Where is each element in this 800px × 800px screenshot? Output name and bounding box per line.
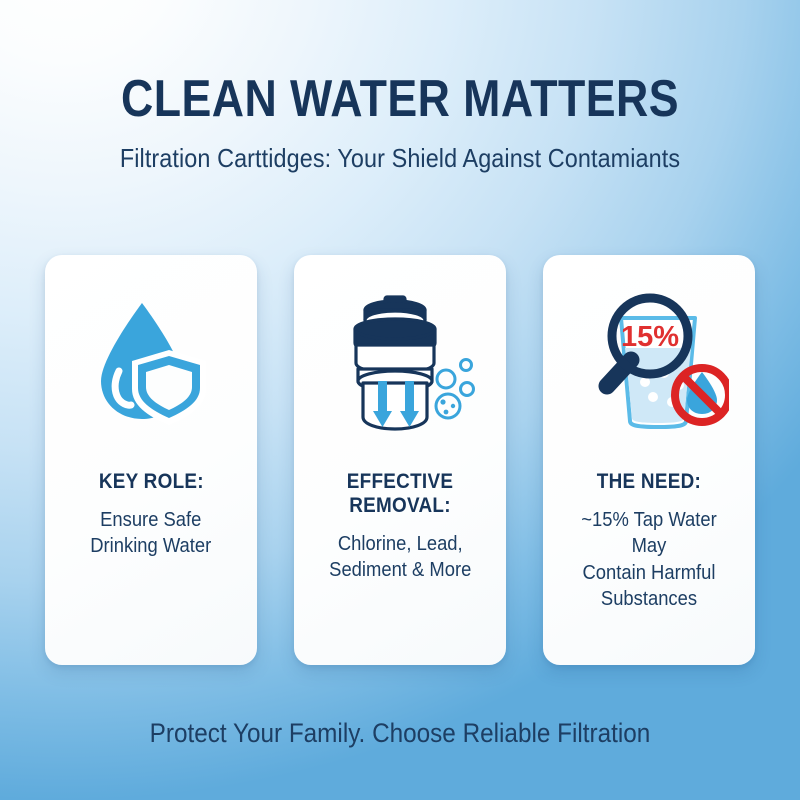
footer-tagline: Protect Your Family. Choose Reliable Fil… — [40, 718, 760, 749]
card-icon-slot — [57, 255, 245, 470]
card-heading: KEY ROLE: — [98, 470, 203, 494]
poster-footer: Protect Your Family. Choose Reliable Fil… — [0, 718, 800, 749]
infographic-poster: CLEAN WATER MATTERS Filtration Carttidge… — [0, 0, 800, 800]
card-body-text: Ensure Safe Drinking Water — [90, 507, 211, 560]
page-title: CLEAN WATER MATTERS — [56, 72, 744, 127]
card-body-text: ~15% Tap Water May Contain Harmful Subst… — [563, 507, 736, 613]
feature-card-list: KEY ROLE: Ensure Safe Drinking Water — [45, 255, 755, 665]
card-heading: EFFECTIVE REMOVAL: — [315, 470, 484, 518]
card-icon-slot: 15% — [555, 255, 743, 470]
magnifier-glass-contaminant-icon: 15% — [569, 290, 729, 435]
page-subtitle: Filtration Carttidges: Your Shield Again… — [40, 143, 760, 174]
card-body-text: Chlorine, Lead, Sediment & More — [329, 531, 471, 584]
poster-header: CLEAN WATER MATTERS Filtration Carttidge… — [0, 0, 800, 174]
feature-card-key-role: KEY ROLE: Ensure Safe Drinking Water — [45, 255, 257, 665]
card-icon-slot — [306, 255, 494, 470]
feature-card-the-need: 15% THE NEED: ~15% Tap Water May Contain… — [543, 255, 755, 665]
water-drop-shield-icon — [87, 297, 215, 429]
filter-cartridge-icon — [325, 293, 475, 433]
feature-card-effective-removal: EFFECTIVE REMOVAL: Chlorine, Lead, Sedim… — [294, 255, 506, 665]
card-heading: THE NEED: — [597, 470, 701, 494]
percentage-callout: 15% — [621, 321, 679, 353]
